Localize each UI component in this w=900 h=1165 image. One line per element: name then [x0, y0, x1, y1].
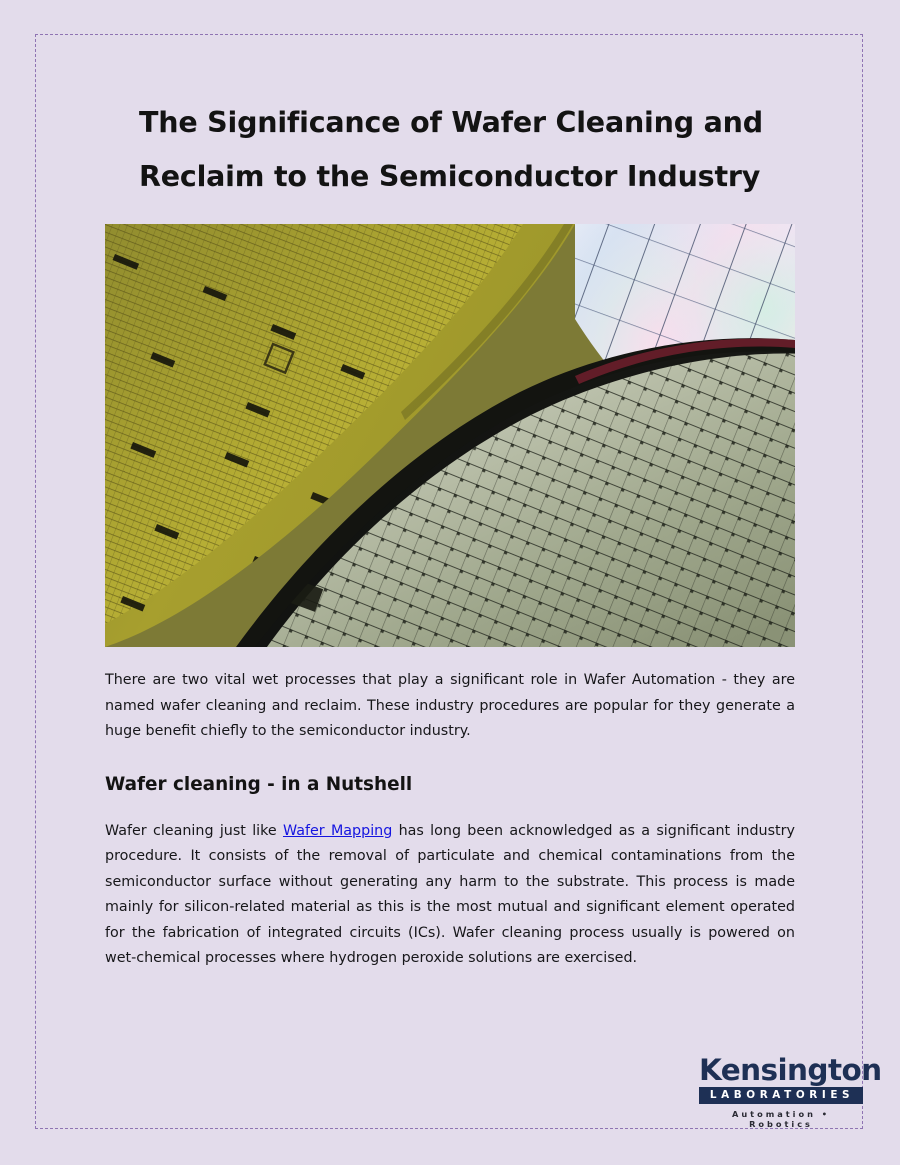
paragraph-text-after-link: has long been acknowledged as a signific…: [105, 823, 795, 967]
logo-tagline: Automation • Robotics: [699, 1109, 863, 1129]
logo-division-bar: LABORATORIES: [699, 1087, 863, 1104]
silicon-wafer-photo-graphic: [105, 224, 795, 647]
page-title: The Significance of Wafer Cleaning and R…: [105, 96, 795, 204]
silicon-wafer-photo: [105, 224, 795, 647]
paragraph-text-before-link: Wafer cleaning just like: [105, 823, 283, 839]
section-heading-wafer-cleaning: Wafer cleaning - in a Nutshell: [105, 771, 795, 799]
kensington-laboratories-logo: Kensington LABORATORIES Automation • Rob…: [699, 1055, 863, 1129]
document-content: The Significance of Wafer Cleaning and R…: [105, 96, 795, 972]
page-title-line-2: Reclaim to the Semiconductor Industry: [139, 150, 795, 204]
logo-wordmark: Kensington: [699, 1055, 863, 1085]
page-title-line-1: The Significance of Wafer Cleaning and: [139, 96, 795, 150]
intro-paragraph: There are two vital wet processes that p…: [105, 668, 795, 745]
wafer-mapping-link[interactable]: Wafer Mapping: [283, 823, 392, 839]
wafer-cleaning-paragraph: Wafer cleaning just like Wafer Mapping h…: [105, 819, 795, 972]
